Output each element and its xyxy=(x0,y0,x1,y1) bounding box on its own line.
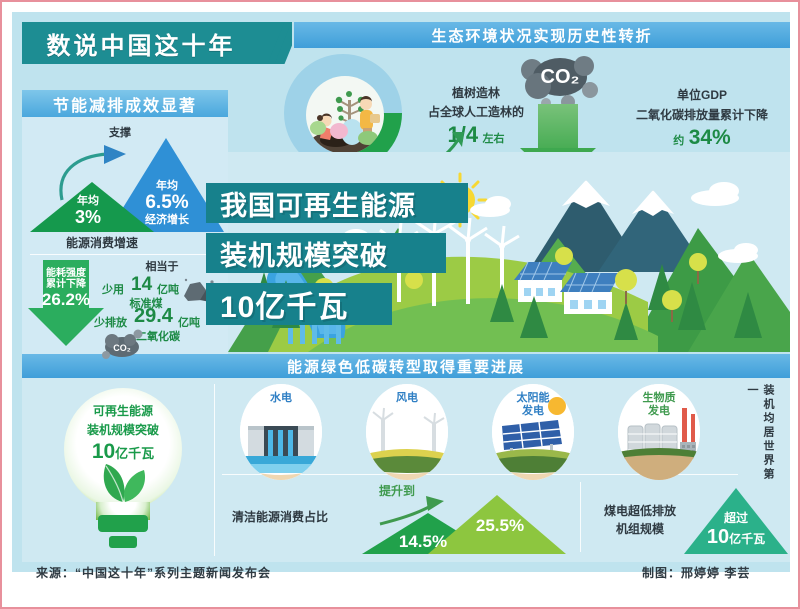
bulb-text-block: 可再生能源 装机规模突破 10亿千瓦 xyxy=(44,402,202,464)
svg-text:CO₂: CO₂ xyxy=(113,343,131,353)
clean-energy-to-value: 25.5% xyxy=(444,516,556,536)
renewable-capacity-bulb: 可再生能源 装机规模突破 10亿千瓦 xyxy=(44,384,204,554)
category-hydro-label: 水电 xyxy=(240,392,322,405)
afforestation-suffix: 左右 xyxy=(483,133,505,145)
gdp-carbon-prefix: 约 xyxy=(673,135,684,147)
left-panel-divider xyxy=(30,254,220,255)
bulb-value: 10 xyxy=(92,440,115,463)
coal-power-unit: 亿千瓦 xyxy=(729,532,765,546)
bulb-base-upper xyxy=(98,515,148,532)
page-title: 数说中国这十年 xyxy=(47,26,236,61)
headline-line1-text: 我国可再生能源 xyxy=(220,184,416,223)
bottom-panel-divider-left xyxy=(214,384,215,556)
gdp-carbon-line2: 二氧化碳排放量累计下降 xyxy=(612,106,792,123)
headline-line2-text: 装机规模突破 xyxy=(220,234,388,273)
headline-line3: 10亿千瓦 xyxy=(206,283,392,325)
bulb-line1: 可再生能源 xyxy=(44,402,202,419)
section-header-transition-label: 能源绿色低碳转型取得重要进展 xyxy=(287,356,525,377)
category-wind[interactable]: 风电 xyxy=(366,384,448,480)
category-solar-label: 太阳能 发电 xyxy=(492,392,574,417)
headline-line3-text: 10亿千瓦 xyxy=(220,282,348,326)
headline-line2: 装机规模突破 xyxy=(206,233,446,273)
gdp-carbon-value: 34% xyxy=(689,126,731,149)
energy-intensity-value: 26.2% xyxy=(28,290,104,310)
co2-cloud-icon: CO₂ xyxy=(100,327,144,361)
clean-energy-label: 清洁能源消费占比 xyxy=(232,508,362,525)
bulb-unit: 亿千瓦 xyxy=(115,446,154,461)
world-first-vertical-note: 装机均居世界第一 xyxy=(744,384,776,488)
bulb-base-lower xyxy=(109,536,137,548)
category-biomass-label-line2: 发电 xyxy=(648,405,670,417)
bottom-panel-divider-right xyxy=(580,482,581,552)
section-header-ecology: 生态环境状况实现历史性转折 xyxy=(294,22,790,48)
category-solar-label-line2: 发电 xyxy=(522,405,544,417)
category-solar-label-line1: 太阳能 xyxy=(517,392,550,404)
coal-saving-value: 14 xyxy=(131,274,152,296)
coal-power-prefix: 超过 xyxy=(684,512,788,526)
section-header-energy-saving: 节能减排成效显著 xyxy=(22,90,228,117)
infographic-poster: 数说中国这十年 节能减排成效显著 生态环境状况实现历史性转折 能源绿色低碳转型取… xyxy=(0,0,800,609)
section-header-ecology-label: 生态环境状况实现历史性转折 xyxy=(431,25,652,46)
energy-consumption-value: 3% xyxy=(38,207,138,228)
coal-power-value-row: 10亿千瓦 xyxy=(684,526,788,549)
category-hydro[interactable]: 水电 xyxy=(240,384,322,480)
gdp-carbon-stat: 单位GDP 二氧化碳排放量累计下降 约 34% xyxy=(612,86,792,150)
section-header-energy-saving-label: 节能减排成效显著 xyxy=(53,92,197,116)
clean-energy-chart: 清洁能源消费占比 提升到 14.5% 25.5% xyxy=(232,482,572,554)
poster-title-banner: 数说中国这十年 xyxy=(22,22,260,64)
category-biomass-label-line1: 生物质 xyxy=(643,392,676,404)
coal-power-line1: 煤电超低排放 xyxy=(592,502,688,519)
co2-badge-text: CO₂ xyxy=(541,66,580,88)
credit-text: 制图：邢婷婷 李芸 xyxy=(642,564,750,581)
category-wind-label: 风电 xyxy=(366,392,448,405)
co2-reduction-value: 29.4 xyxy=(134,305,173,328)
energy-intensity-line1: 能耗强度 xyxy=(28,268,104,280)
category-solar[interactable]: 太阳能 发电 xyxy=(492,384,574,480)
energy-consumption-caption: 能源消费增速 xyxy=(32,234,172,251)
equivalent-label: 相当于 xyxy=(112,258,212,274)
coal-power-line2: 机组规模 xyxy=(592,520,688,537)
headline-line1: 我国可再生能源 xyxy=(206,183,468,223)
energy-consumption-line1: 年均 xyxy=(38,195,138,208)
category-biomass[interactable]: 生物质 发电 xyxy=(618,384,700,480)
co2-emission-cloud-icon: CO₂ xyxy=(512,50,604,112)
category-biomass-label: 生物质 发电 xyxy=(618,392,700,417)
bulb-line2: 装机规模突破 xyxy=(44,421,202,438)
energy-intensity-line2: 累计下降 xyxy=(28,279,104,291)
gdp-carbon-line1: 单位GDP xyxy=(612,86,792,103)
source-text: 来源：“中国这十年”系列主题新闻发布会 xyxy=(36,564,271,581)
coal-power-stat: 煤电超低排放 机组规模 超过 10亿千瓦 xyxy=(592,488,762,558)
leaf-icon xyxy=(96,460,154,504)
coal-power-value: 10 xyxy=(707,526,729,548)
